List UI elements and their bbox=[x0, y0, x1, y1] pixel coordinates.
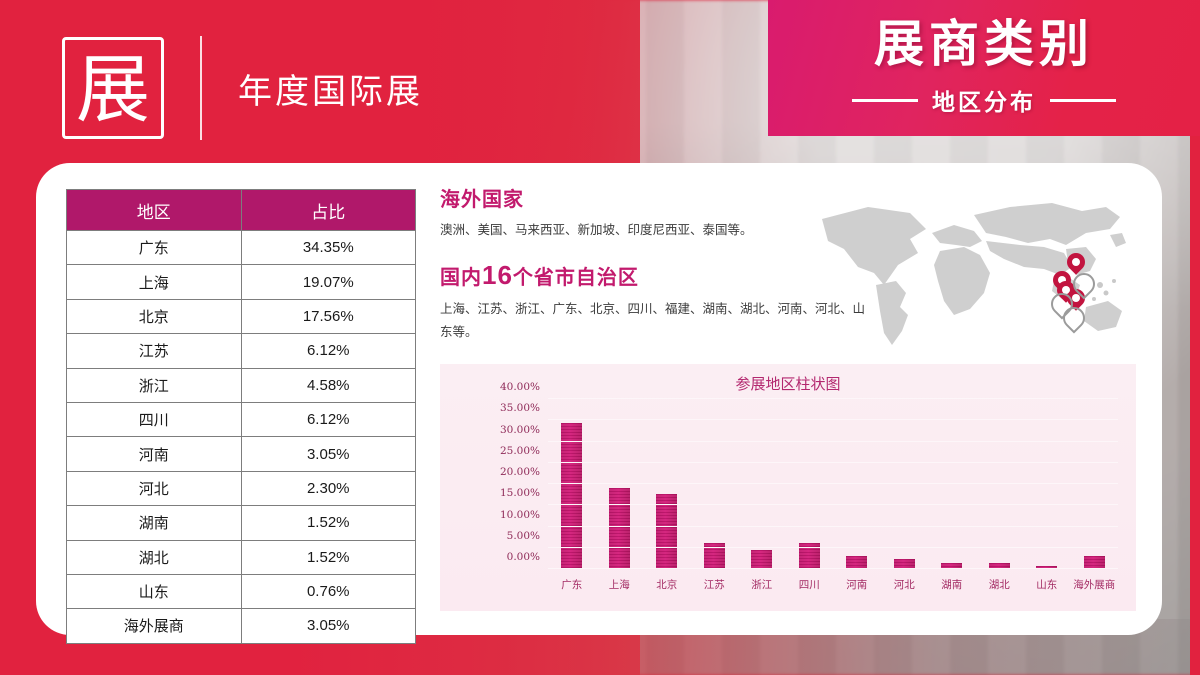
chart-bar bbox=[751, 550, 772, 569]
header-title-band: 展商类别 地区分布 bbox=[768, 0, 1200, 136]
cell-region: 山东 bbox=[67, 574, 242, 608]
chart-bars: 广东上海北京江苏浙江四川河南河北湖南湖北山东海外展商 bbox=[548, 399, 1118, 569]
cell-region: 河北 bbox=[67, 471, 242, 505]
table-header-share: 占比 bbox=[241, 190, 416, 231]
chart-gridline bbox=[548, 568, 1118, 569]
region-table-wrapper: 地区 占比 广东34.35%上海19.07%北京17.56%江苏6.12%浙江4… bbox=[66, 189, 416, 644]
page-title: 展商类别 bbox=[874, 19, 1094, 69]
chart-bar-column: 山东 bbox=[1023, 399, 1071, 569]
chart-bar-column: 北京 bbox=[643, 399, 691, 569]
cell-region: 湖北 bbox=[67, 540, 242, 574]
chart-bar-column: 海外展商 bbox=[1071, 399, 1119, 569]
table-row: 海外展商3.05% bbox=[67, 609, 416, 643]
cell-region: 湖南 bbox=[67, 506, 242, 540]
chart-x-tick-label: 湖南 bbox=[941, 577, 962, 592]
chart-bar-column: 湖北 bbox=[976, 399, 1024, 569]
chart-gridline bbox=[548, 483, 1118, 484]
chart-y-tick-label: 40.00% bbox=[500, 381, 540, 393]
cell-share: 34.35% bbox=[241, 231, 416, 265]
chart-bar-column: 湖南 bbox=[928, 399, 976, 569]
table-row: 河南3.05% bbox=[67, 437, 416, 471]
chart-y-tick-label: 5.00% bbox=[507, 530, 540, 542]
cell-region: 四川 bbox=[67, 402, 242, 436]
chart-bar-column: 江苏 bbox=[691, 399, 739, 569]
domestic-body: 上海、江苏、浙江、广东、北京、四川、福建、湖南、湖北、河南、河北、山东等。 bbox=[440, 298, 870, 344]
chart-y-tick-label: 25.00% bbox=[500, 445, 540, 457]
logo-text: 年度国际展 bbox=[238, 64, 423, 113]
cell-share: 2.30% bbox=[241, 471, 416, 505]
domestic-heading-number: 16 bbox=[482, 260, 513, 290]
chart-gridline bbox=[548, 419, 1118, 420]
cell-region: 浙江 bbox=[67, 368, 242, 402]
cell-share: 1.52% bbox=[241, 540, 416, 574]
chart-y-tick-label: 20.00% bbox=[500, 466, 540, 478]
cell-share: 17.56% bbox=[241, 299, 416, 333]
chart-gridline bbox=[548, 504, 1118, 505]
page-subtitle: 地区分布 bbox=[932, 83, 1036, 117]
chart-x-tick-label: 河北 bbox=[894, 577, 915, 592]
chart-bar bbox=[656, 494, 677, 569]
logo-mark-icon: 展 bbox=[62, 37, 164, 139]
overseas-body: 澳洲、美国、马来西亚、新加坡、印度尼西亚、泰国等。 bbox=[440, 219, 870, 242]
chart-x-tick-label: 湖北 bbox=[989, 577, 1010, 592]
table-row: 广东34.35% bbox=[67, 231, 416, 265]
chart-gridline bbox=[548, 441, 1118, 442]
chart-x-tick-label: 山东 bbox=[1036, 577, 1057, 592]
table-row: 江苏6.12% bbox=[67, 334, 416, 368]
chart-y-tick-label: 15.00% bbox=[500, 487, 540, 499]
slide-canvas: 展 年度国际展 展商类别 地区分布 地区 占比 广东34.35%上海19.07%… bbox=[0, 0, 1200, 675]
cell-share: 6.12% bbox=[241, 402, 416, 436]
region-share-table: 地区 占比 广东34.35%上海19.07%北京17.56%江苏6.12%浙江4… bbox=[66, 189, 416, 644]
chart-bar-column: 四川 bbox=[786, 399, 834, 569]
chart-bar-column: 上海 bbox=[596, 399, 644, 569]
subtitle-rule-left bbox=[852, 99, 918, 102]
chart-x-tick-label: 上海 bbox=[609, 577, 630, 592]
table-row: 河北2.30% bbox=[67, 471, 416, 505]
chart-y-tick-label: 35.00% bbox=[500, 402, 540, 414]
cell-share: 1.52% bbox=[241, 506, 416, 540]
chart-gridline bbox=[548, 398, 1118, 399]
chart-x-tick-label: 北京 bbox=[656, 577, 677, 592]
cell-share: 3.05% bbox=[241, 609, 416, 643]
chart-y-tick-label: 30.00% bbox=[500, 424, 540, 436]
chart-bar-column: 浙江 bbox=[738, 399, 786, 569]
chart-x-tick-label: 江苏 bbox=[704, 577, 725, 592]
table-row: 北京17.56% bbox=[67, 299, 416, 333]
right-content-column: 海外国家 澳洲、美国、马来西亚、新加坡、印度尼西亚、泰国等。 国内16个省市自治… bbox=[440, 183, 1140, 344]
chart-y-tick-label: 0.00% bbox=[507, 551, 540, 563]
chart-gridline bbox=[548, 547, 1118, 548]
chart-x-tick-label: 浙江 bbox=[751, 577, 772, 592]
chart-title: 参展地区柱状图 bbox=[440, 373, 1136, 394]
content-card: 地区 占比 广东34.35%上海19.07%北京17.56%江苏6.12%浙江4… bbox=[36, 163, 1162, 635]
chart-x-tick-label: 广东 bbox=[561, 577, 582, 592]
chart-gridline bbox=[548, 462, 1118, 463]
cell-region: 北京 bbox=[67, 299, 242, 333]
cell-share: 6.12% bbox=[241, 334, 416, 368]
cell-share: 19.07% bbox=[241, 265, 416, 299]
table-header-row: 地区 占比 bbox=[67, 190, 416, 231]
table-row: 湖南1.52% bbox=[67, 506, 416, 540]
domestic-heading-prefix: 国内 bbox=[440, 267, 482, 289]
logo-divider bbox=[200, 36, 202, 140]
chart-x-tick-label: 四川 bbox=[799, 577, 820, 592]
cell-region: 河南 bbox=[67, 437, 242, 471]
table-row: 四川6.12% bbox=[67, 402, 416, 436]
logo-glyph: 展 bbox=[76, 53, 150, 127]
table-header-region: 地区 bbox=[67, 190, 242, 231]
cell-region: 上海 bbox=[67, 265, 242, 299]
chart-bar bbox=[609, 488, 630, 569]
cell-share: 4.58% bbox=[241, 368, 416, 402]
domestic-heading-suffix: 个省市自治区 bbox=[513, 267, 639, 289]
bar-chart-panel: 参展地区柱状图 广东上海北京江苏浙江四川河南河北湖南湖北山东海外展商 0.00%… bbox=[440, 364, 1136, 611]
chart-x-tick-label: 河南 bbox=[846, 577, 867, 592]
cell-region: 海外展商 bbox=[67, 609, 242, 643]
cell-share: 0.76% bbox=[241, 574, 416, 608]
table-row: 上海19.07% bbox=[67, 265, 416, 299]
world-map bbox=[814, 189, 1134, 357]
table-row: 湖北1.52% bbox=[67, 540, 416, 574]
chart-gridline bbox=[548, 526, 1118, 527]
chart-plot-area: 广东上海北京江苏浙江四川河南河北湖南湖北山东海外展商 0.00%5.00%10.… bbox=[548, 399, 1118, 569]
subtitle-rule-right bbox=[1050, 99, 1116, 102]
cell-region: 江苏 bbox=[67, 334, 242, 368]
cell-share: 3.05% bbox=[241, 437, 416, 471]
brand-logo: 展 年度国际展 bbox=[62, 36, 423, 140]
chart-bar-column: 河南 bbox=[833, 399, 881, 569]
table-row: 山东0.76% bbox=[67, 574, 416, 608]
chart-y-tick-label: 10.00% bbox=[500, 509, 540, 521]
chart-x-tick-label: 海外展商 bbox=[1073, 577, 1115, 592]
subtitle-row: 地区分布 bbox=[852, 83, 1116, 117]
chart-bar-column: 河北 bbox=[881, 399, 929, 569]
chart-bar-column: 广东 bbox=[548, 399, 596, 569]
cell-region: 广东 bbox=[67, 231, 242, 265]
table-body: 广东34.35%上海19.07%北京17.56%江苏6.12%浙江4.58%四川… bbox=[67, 231, 416, 644]
table-row: 浙江4.58% bbox=[67, 368, 416, 402]
